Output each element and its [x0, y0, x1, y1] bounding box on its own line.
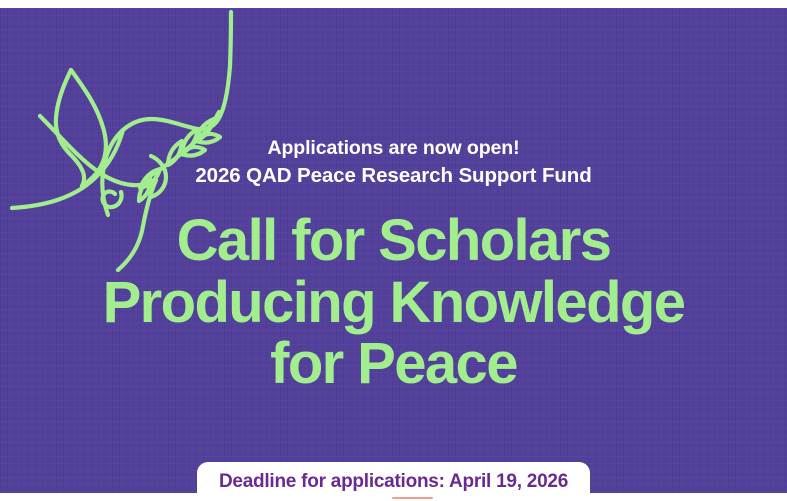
deadline-badge: Deadline for applications: April 19, 202…: [197, 462, 590, 493]
bottom-accent-rule: [392, 497, 433, 499]
headline-line-2: Producing Knowledge: [103, 272, 685, 333]
headline-line-1: Call for Scholars: [103, 210, 685, 271]
eyebrow-line-1: Applications are now open!: [267, 137, 519, 159]
eyebrow-line-2: 2026 QAD Peace Research Support Fund: [195, 162, 591, 190]
banner-page: Applications are now open! 2026 QAD Peac…: [0, 0, 787, 501]
page-title: Call for Scholars Producing Knowledge fo…: [103, 210, 685, 394]
headline-line-3: for Peace: [103, 333, 685, 394]
eyebrow-text: Applications are now open! 2026 QAD Peac…: [195, 135, 591, 190]
deadline-container: Deadline for applications: April 19, 202…: [197, 462, 590, 493]
banner-content: Applications are now open! 2026 QAD Peac…: [0, 8, 787, 493]
promo-banner: Applications are now open! 2026 QAD Peac…: [0, 8, 787, 493]
